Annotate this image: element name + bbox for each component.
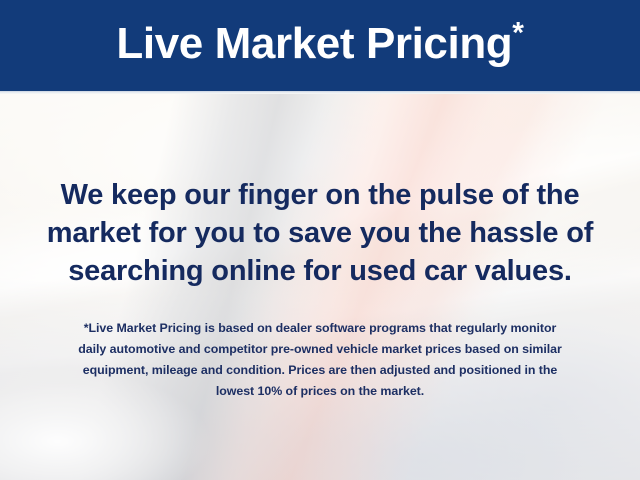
headline: We keep our finger on the pulse of the m… <box>0 176 640 290</box>
page-title-asterisk: * <box>512 16 523 49</box>
headline-line-1: We keep our finger on the pulse of the <box>0 176 640 214</box>
header-divider <box>0 91 640 94</box>
disclaimer-line-4: lowest 10% of prices on the market. <box>0 381 640 402</box>
page-title-text: Live Market Pricing <box>116 19 512 68</box>
disclaimer-line-2: daily automotive and competitor pre-owne… <box>0 339 640 360</box>
page-title: Live Market Pricing* <box>116 22 523 70</box>
headline-line-3: searching online for used car values. <box>0 252 640 290</box>
disclaimer-line-1: *Live Market Pricing is based on dealer … <box>0 318 640 339</box>
header-band: Live Market Pricing* <box>0 0 640 91</box>
headline-line-2: market for you to save you the hassle of <box>0 214 640 252</box>
live-market-pricing-banner: Live Market Pricing* We keep our finger … <box>0 0 640 480</box>
disclaimer-line-3: equipment, mileage and condition. Prices… <box>0 360 640 381</box>
disclaimer-fineprint: *Live Market Pricing is based on dealer … <box>0 318 640 402</box>
